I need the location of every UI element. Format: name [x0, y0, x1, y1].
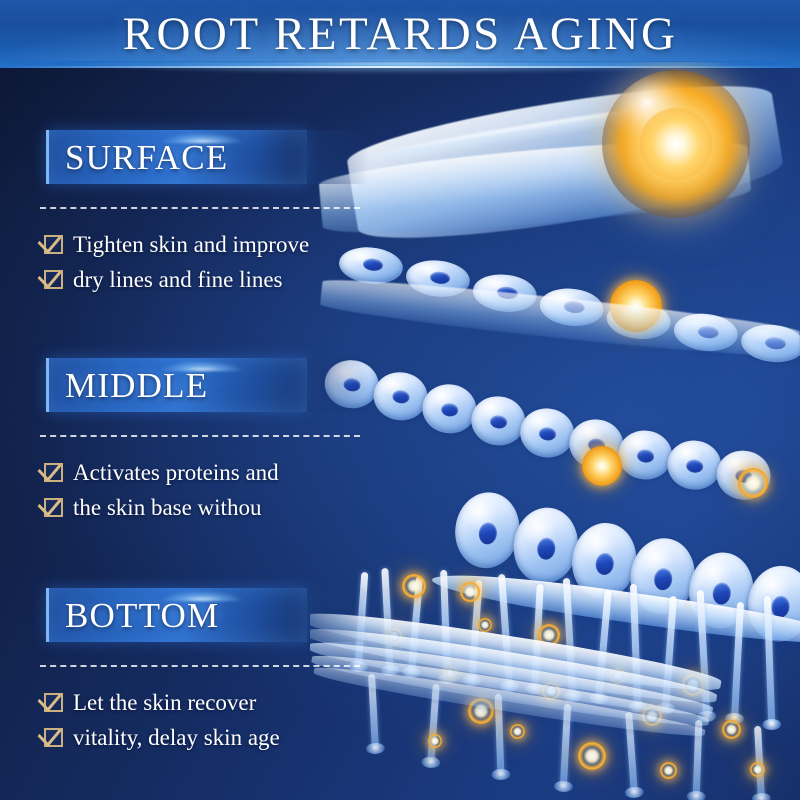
- bullet-item: Activates proteins and: [44, 457, 360, 489]
- golden-sphere-core: [640, 108, 712, 180]
- bullet-text: vitality, delay skin age: [73, 722, 280, 754]
- bullet-item: Tighten skin and improve: [44, 229, 360, 261]
- section-bottom: BOTTOM Let the skin recover vitality, de…: [0, 588, 360, 757]
- checkbox-checked-icon: [44, 463, 63, 482]
- section-divider-bottom: [40, 665, 360, 667]
- section-surface: SURFACE Tighten skin and improve dry lin…: [0, 130, 360, 299]
- header-banner: ROOT RETARDS AGING: [0, 0, 800, 68]
- bullet-item: vitality, delay skin age: [44, 722, 360, 754]
- golden-particle-dermis-2: [738, 468, 768, 498]
- checkbox-checked-icon: [44, 270, 63, 289]
- bullet-text: dry lines and fine lines: [73, 264, 283, 296]
- checkbox-checked-icon: [44, 498, 63, 517]
- section-label-box-surface: SURFACE: [46, 130, 307, 184]
- bullet-item: dry lines and fine lines: [44, 264, 360, 296]
- page-title: ROOT RETARDS AGING: [0, 0, 800, 68]
- golden-particle-dermis: [582, 446, 622, 486]
- checkbox-checked-icon: [44, 235, 63, 254]
- bullet-list-surface: Tighten skin and improve dry lines and f…: [44, 229, 360, 296]
- bullet-text: Activates proteins and: [73, 457, 279, 489]
- section-label-surface: SURFACE: [65, 130, 228, 184]
- section-label-box-middle: MIDDLE: [46, 358, 307, 412]
- bullet-list-bottom: Let the skin recover vitality, delay ski…: [44, 687, 360, 754]
- section-label-box-bottom: BOTTOM: [46, 588, 307, 642]
- section-label-bottom: BOTTOM: [65, 588, 219, 642]
- bullet-text: the skin base withou: [73, 492, 261, 524]
- section-divider-surface: [40, 207, 360, 209]
- bullet-text: Tighten skin and improve: [73, 229, 309, 261]
- dermis-cell-row: [315, 351, 800, 519]
- bullet-text: Let the skin recover: [73, 687, 256, 719]
- checkbox-checked-icon: [44, 728, 63, 747]
- skin-layer-illustration: [310, 62, 800, 800]
- bullet-item: the skin base withou: [44, 492, 360, 524]
- bullet-list-middle: Activates proteins and the skin base wit…: [44, 457, 360, 524]
- poster-root: ROOT RETARDS AGING: [0, 0, 800, 800]
- section-label-middle: MIDDLE: [65, 358, 208, 412]
- section-divider-middle: [40, 435, 360, 437]
- section-middle: MIDDLE Activates proteins and the skin b…: [0, 358, 360, 527]
- bullet-item: Let the skin recover: [44, 687, 360, 719]
- checkbox-checked-icon: [44, 693, 63, 712]
